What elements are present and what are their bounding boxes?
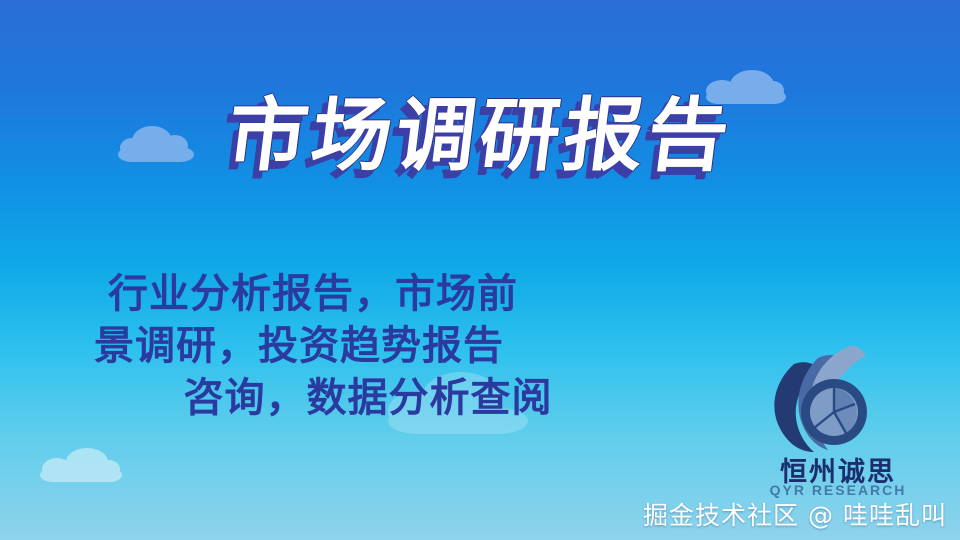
body-line-1: 行业分析报告，市场前 <box>78 268 658 320</box>
cloud-bottom-left-icon <box>40 448 122 482</box>
body-line-3: 咨询，数据分析查阅 <box>78 372 658 424</box>
leaf-pie-chart-logo-icon <box>758 342 888 454</box>
company-logo: 恒州诚思 QYR RESEARCH <box>738 342 938 502</box>
body-line-2: 景调研，投资趋势报告 <box>78 320 658 372</box>
watermark-text: 掘金技术社区 @ 哇哇乱叫 <box>640 496 950 532</box>
poster-body-copy: 行业分析报告，市场前 景调研，投资趋势报告 咨询，数据分析查阅 <box>78 268 658 424</box>
poster-title-text: 市场调研报告 <box>223 96 737 176</box>
poster-title: 市场调研报告 <box>0 96 960 176</box>
poster-canvas: 市场调研报告 行业分析报告，市场前 景调研，投资趋势报告 咨询，数据分析查阅 <box>0 0 960 540</box>
